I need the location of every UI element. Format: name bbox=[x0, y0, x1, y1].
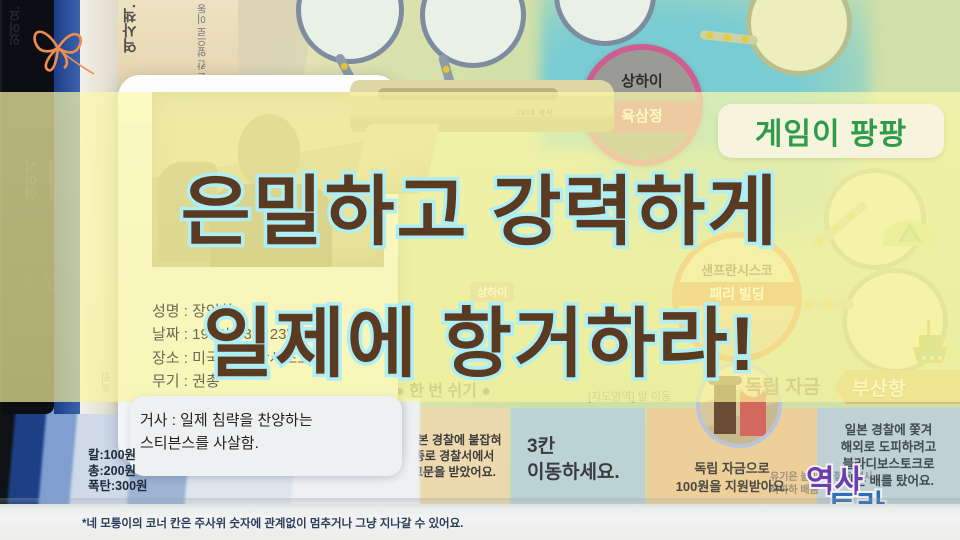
video-thumbnail: 상하이 육삼정 샌프란시스코 패리 빌딩 일본 경찰에 붙잡혀 종로 경찰서에서… bbox=[0, 0, 960, 540]
handle-dot-icon bbox=[706, 32, 714, 40]
title-line-2: 일제에 항거하라! bbox=[0, 282, 960, 392]
cell-line: 3칸 bbox=[527, 434, 645, 460]
deed-line-1: 거사 : 일제 침략을 찬양하는 bbox=[140, 410, 390, 433]
corner-badge: 게임이 팡팡 bbox=[718, 104, 944, 158]
handle-dot-icon bbox=[741, 35, 749, 43]
board-cell-move: 3칸 이동하세요. bbox=[511, 408, 645, 504]
cell-line: 해외로 도피하려고 bbox=[817, 439, 960, 456]
side-text-vertical: 있어요. bbox=[6, 6, 23, 45]
side-text-vertical: 역사책. bbox=[120, 4, 141, 53]
deed-line-2: 스티븐스를 사살함. bbox=[140, 433, 390, 456]
title-line-1: 은밀하고 강력하게 bbox=[0, 150, 960, 260]
handle-dot-icon bbox=[724, 34, 732, 42]
info-card-deed: 거사 : 일제 침략을 찬양하는 스티븐스를 사살함. bbox=[140, 410, 390, 455]
price-bomb: 폭탄:300원 bbox=[88, 479, 148, 495]
price-gun: 총:200원 bbox=[88, 464, 148, 480]
weapon-price-list: 칼:100원 총:200원 폭탄:300원 bbox=[88, 448, 148, 495]
ribbon-bow-icon bbox=[24, 18, 94, 78]
footnote-text: *네 모퉁이의 코너 칸은 주사위 숫자에 관계없이 멈추거나 그냥 지나갈 수… bbox=[82, 515, 463, 531]
cell-line: 일본 경찰에 쫓겨 bbox=[817, 422, 960, 439]
side-text-vertical: 한 칸 앞으로 이동 bbox=[196, 4, 211, 82]
handle-dot-icon bbox=[340, 62, 349, 71]
price-knife: 칼:100원 bbox=[88, 448, 148, 464]
cell-line: 이동하세요. bbox=[527, 460, 645, 486]
